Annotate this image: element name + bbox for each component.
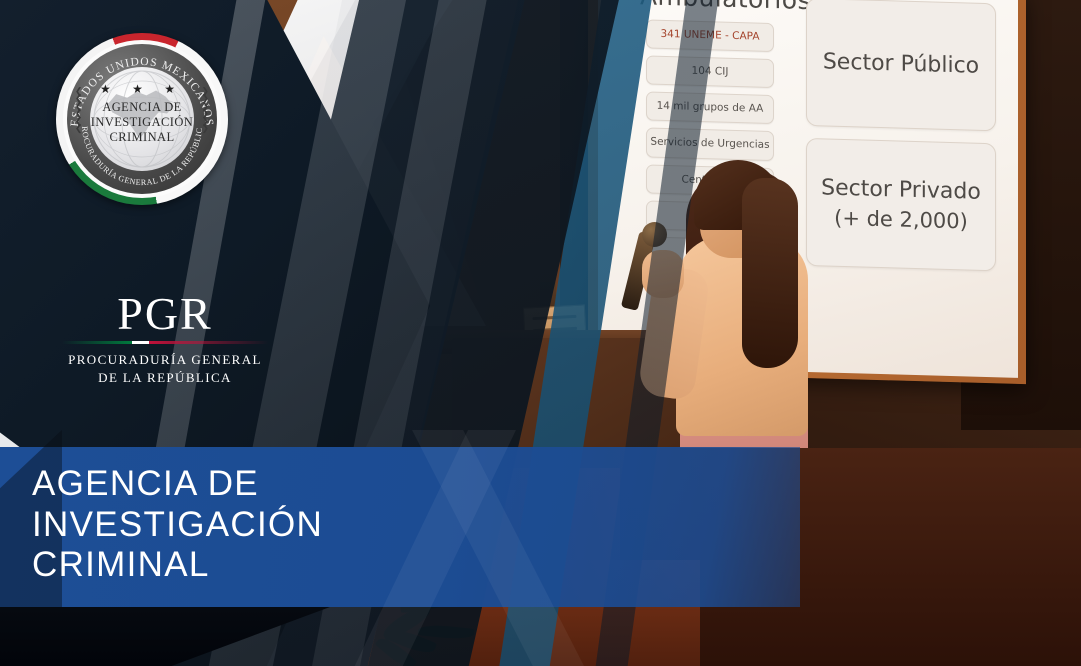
rule-white — [132, 341, 148, 344]
pgr-subtitle: PROCURADURÍA GENERAL DE LA REPÚBLICA — [60, 351, 270, 386]
seal-center-text: Agencia de Investigación Criminal — [90, 100, 194, 144]
pgr-subtitle-line-1: PROCURADURÍA GENERAL — [60, 351, 270, 369]
pgr-subtitle-line-2: DE LA REPÚBLICA — [60, 369, 270, 387]
rule-green — [62, 341, 132, 344]
pgr-tricolor-rule — [62, 341, 268, 344]
seal-stars: ★ ★ ★ — [90, 82, 194, 96]
laurel-left-icon: ❮❮❮❮❮❮ — [75, 88, 83, 132]
banner-title-line-3: CRIMINAL — [32, 545, 652, 586]
seal-center-line-3: Criminal — [90, 130, 194, 145]
seal-center-line-1: Agencia de — [90, 100, 194, 115]
pgr-logo: PGR PROCURADURÍA GENERAL DE LA REPÚBLICA — [60, 292, 270, 386]
aic-seal: ESTADOS UNIDOS MEXICANOS PROCURADURÍA GE… — [56, 33, 228, 205]
banner-title-line-1: AGENCIA DE — [32, 464, 652, 505]
seal-center-line-2: Investigación — [90, 115, 194, 130]
seal-core: ★ ★ ★ Agencia de Investigación Criminal — [90, 67, 194, 171]
banner-title-line-2: INVESTIGACIÓN — [32, 505, 652, 546]
promotional-graphic: Ambulatorios 341 UNEME - CAPA 104 CIJ 14… — [0, 0, 1081, 666]
pgr-wordmark: PGR — [60, 292, 270, 336]
laurel-right-icon: ❯❯❯❯❯❯ — [202, 88, 210, 132]
banner-title: AGENCIA DE INVESTIGACIÓN CRIMINAL — [32, 464, 652, 586]
rule-red — [149, 341, 268, 344]
